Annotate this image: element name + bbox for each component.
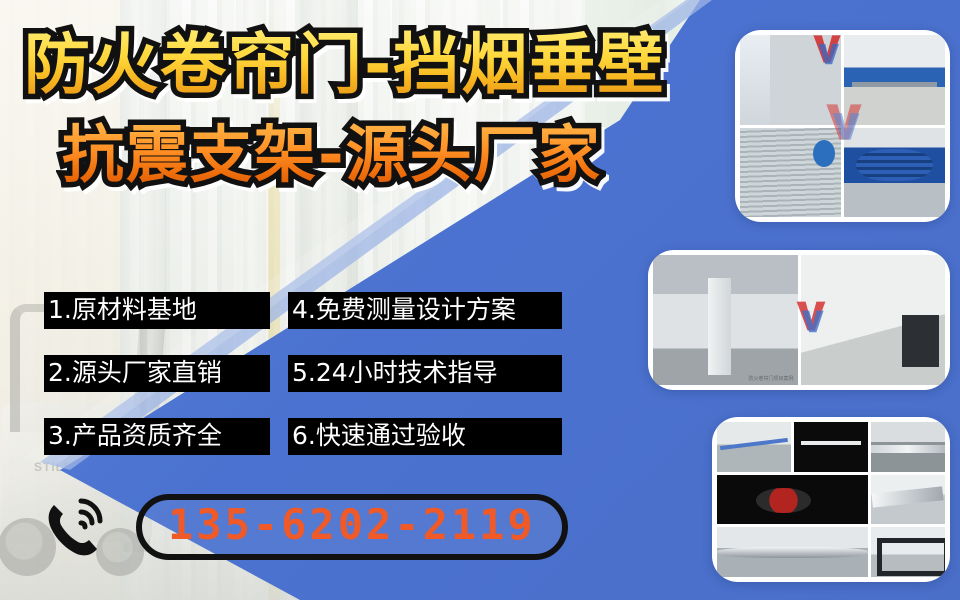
collage-project-sites: 防火卷帘门项目案例 (648, 250, 950, 390)
photo-red-fan-duct-bracket (717, 475, 868, 525)
collage-grid (717, 422, 945, 577)
photo-production-machine (844, 35, 945, 125)
photo-shutter-coil-roll (844, 128, 945, 218)
feature-item-1: 1.原材料基地 (44, 292, 270, 329)
photo-parking-garage: 防火卷帘门项目案例 (653, 255, 798, 385)
photo-pipe-clamp-support (871, 422, 945, 472)
poster-canvas: STILL 防火卷帘门-挡烟垂壁 防火卷帘门-挡烟垂壁 抗震支架-源头厂家 抗震… (0, 0, 960, 600)
photo-rolling-shutter-corridor (740, 128, 841, 218)
photo-steel-frame-grid (871, 527, 945, 577)
feature-list: 1.原材料基地 4.免费测量设计方案 2.源头厂家直销 5.24小时技术指导 3… (44, 292, 574, 481)
feature-row: 3.产品资质齐全 6.快速通过验收 (44, 418, 574, 455)
phone-call-icon (40, 492, 114, 562)
collage-grid: 防火卷帘门项目案例 (653, 255, 945, 385)
photo-blue-fire-shutter-door (740, 35, 841, 125)
feature-item-2: 2.源头厂家直销 (44, 355, 270, 392)
phone-number: 135-6202-2119 (168, 503, 536, 547)
headline-line-2: 抗震支架-源头厂家 抗震支架-源头厂家 (62, 122, 704, 188)
headline-line-1-fill: 防火卷帘门-挡烟垂壁 (24, 30, 665, 100)
feature-item-4: 4.免费测量设计方案 (288, 292, 562, 329)
photo-ceiling-duct-brace (871, 475, 945, 525)
headline-line-1: 防火卷帘门-挡烟垂壁 防火卷帘门-挡烟垂壁 (24, 30, 704, 100)
feature-item-3: 3.产品资质齐全 (44, 418, 270, 455)
collage-grid (740, 35, 945, 217)
photo-bracket-rail-assembly (717, 527, 868, 577)
feature-item-5: 5.24小时技术指导 (288, 355, 562, 392)
feature-item-6: 6.快速通过验收 (288, 418, 562, 455)
photo-dual-pipe-hanger (794, 422, 868, 472)
photo-caption: 防火卷帘门项目案例 (748, 375, 793, 382)
headline-line-2-fill: 抗震支架-源头厂家 (62, 122, 602, 188)
feature-row: 2.源头厂家直销 5.24小时技术指导 (44, 355, 574, 392)
contact-row[interactable]: 135-6202-2119 (40, 492, 568, 562)
phone-number-box[interactable]: 135-6202-2119 (136, 494, 568, 559)
collage-seismic-brackets (712, 417, 950, 582)
photo-ceiling-pipe-bracket (717, 422, 791, 472)
headline-block: 防火卷帘门-挡烟垂壁 防火卷帘门-挡烟垂壁 抗震支架-源头厂家 抗震支架-源头厂… (14, 30, 704, 188)
feature-row: 1.原材料基地 4.免费测量设计方案 (44, 292, 574, 329)
collage-fire-shutter-doors (735, 30, 950, 222)
photo-finished-ceiling (801, 255, 946, 385)
